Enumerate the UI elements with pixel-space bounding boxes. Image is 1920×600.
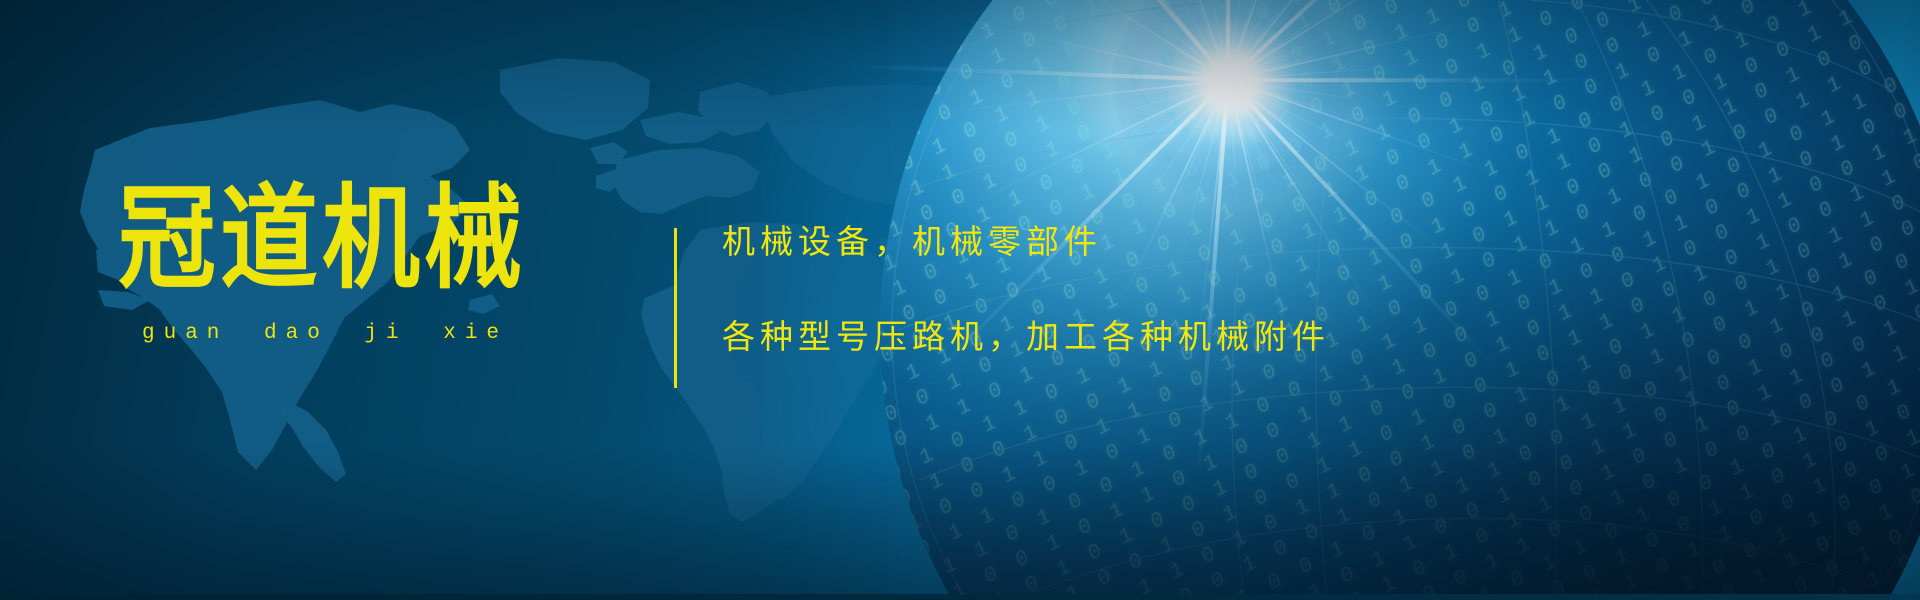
company-name-pinyin: guan dao ji xie bbox=[142, 322, 588, 345]
company-logo[interactable]: 冠道机械 guan dao ji xie bbox=[118, 182, 588, 345]
tagline-primary: 机械设备，机械零部件 bbox=[722, 225, 1682, 258]
company-name-chinese: 冠道机械 bbox=[118, 182, 597, 295]
vertical-divider bbox=[674, 228, 677, 388]
tagline-group: 机械设备，机械零部件 各种型号压路机，加工各种机械附件 bbox=[722, 225, 1682, 353]
promo-banner: 0 1 0 0 1 0 1 1 0 0 1 0 1 0 0 1 1 0 1 0 … bbox=[0, 0, 1920, 600]
bottom-edge-band bbox=[0, 594, 1920, 600]
tagline-secondary: 各种型号压路机，加工各种机械附件 bbox=[722, 320, 1682, 353]
